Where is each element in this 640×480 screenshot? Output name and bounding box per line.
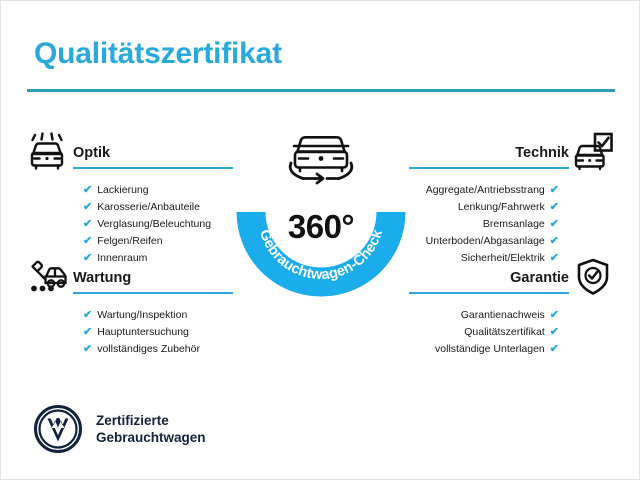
check-icon: ✔ [550,219,559,230]
list-item: ✔ Lackierung [83,182,240,199]
list-item: ✔ Verglasung/Beleuchtung [83,216,240,233]
badge-center-label: 360° [229,208,413,246]
section-title-wrap-wartung: Wartung [73,257,240,294]
check-icon: ✔ [83,219,92,230]
list-item-label: Karosserie/Anbauteile [97,202,200,213]
list-item: ✔ Aggregate/Antriebsstrang [402,182,559,199]
check-icon: ✔ [83,310,92,321]
list-item-label: Verglasung/Beleuchtung [97,219,211,230]
car-360-rotation-icon [277,125,365,187]
check-icon: ✔ [83,327,92,338]
list-item-label: Lackierung [97,185,148,196]
footer-line-2: Gebrauchtwagen [96,429,206,446]
list-item-label: Qualitätszertifikat [464,327,545,338]
list-item: ✔ Qualitätszertifikat [402,324,559,341]
section-header-garantie: Garantie [402,257,617,301]
list-item-label: Garantienachweis [461,310,545,321]
list-item-label: vollständige Unterlagen [435,344,545,355]
list-item: ✔ Felgen/Reifen [83,233,240,250]
check-icon: ✔ [83,202,92,213]
volkswagen-footer: Zertifizierte Gebrauchtwagen [34,405,206,453]
list-item: ✔ Wartung/Inspektion [83,307,240,324]
car-wash-icon [25,132,73,174]
check-icon: ✔ [550,185,559,196]
check-icon: ✔ [83,236,92,247]
section-title-optik: Optik [73,146,240,162]
section-divider-optik [73,167,233,169]
section-divider-garantie [409,292,569,294]
list-item: ✔ Lenkung/Fahrwerk [402,199,559,216]
list-item: ✔ Garantienachweis [402,307,559,324]
check-icon: ✔ [550,202,559,213]
list-item-label: Aggregate/Antriebsstrang [426,185,545,196]
check-icon: ✔ [550,327,559,338]
volkswagen-logo [34,405,82,453]
check-list-garantie: ✔ Garantienachweis ✔ Qualitätszertifikat… [402,307,617,358]
section-optik: Optik ✔ Lackierung ✔ Karosserie/Anbautei… [25,132,240,267]
section-title-wrap-optik: Optik [73,132,240,169]
check-list-optik: ✔ Lackierung ✔ Karosserie/Anbauteile ✔ V… [25,182,240,267]
section-title-wartung: Wartung [73,271,240,287]
section-divider-wartung [73,292,233,294]
check-icon: ✔ [550,310,559,321]
list-item: ✔ vollständiges Zubehör [83,341,240,358]
section-divider-technik [409,167,569,169]
check-icon: ✔ [83,344,92,355]
section-wartung: Wartung ✔ Wartung/Inspektion ✔ Hauptunte… [25,257,240,358]
car-checkbox-icon [569,132,617,174]
section-title-technik: Technik [402,146,569,162]
section-header-wartung: Wartung [25,257,240,301]
list-item-label: Lenkung/Fahrwerk [458,202,545,213]
check-icon: ✔ [550,344,559,355]
list-item: ✔ Bremsanlage [402,216,559,233]
list-item-label: Hauptuntersuchung [97,327,189,338]
section-title-garantie: Garantie [402,271,569,287]
list-item: ✔ Karosserie/Anbauteile [83,199,240,216]
volkswagen-footer-text: Zertifizierte Gebrauchtwagen [96,412,206,447]
section-technik: Technik ✔ Aggregate/Antriebsstrang ✔ Len… [402,132,617,267]
page-title: Qualitätszertifikat [34,37,282,71]
section-title-wrap-technik: Technik [402,132,569,169]
qualitaetszertifikat-page: Qualitätszertifikat [0,0,640,480]
list-item-label: Wartung/Inspektion [97,310,187,321]
section-garantie: Garantie ✔ Garantienachweis ✔ Qualitätsz… [402,257,617,358]
car-service-tool-icon [25,257,73,299]
shield-check-icon [569,257,617,299]
check-list-wartung: ✔ Wartung/Inspektion ✔ Hauptuntersuchung… [25,307,240,358]
list-item-label: Felgen/Reifen [97,236,162,247]
list-item-label: Unterboden/Abgasanlage [426,236,545,247]
check-icon: ✔ [550,236,559,247]
section-title-wrap-garantie: Garantie [402,257,569,294]
list-item-label: vollständiges Zubehör [97,344,200,355]
title-divider [27,89,615,92]
section-header-technik: Technik [402,132,617,176]
list-item: ✔ Unterboden/Abgasanlage [402,233,559,250]
list-item: ✔ vollständige Unterlagen [402,341,559,358]
check-list-technik: ✔ Aggregate/Antriebsstrang ✔ Lenkung/Fah… [402,182,617,267]
list-item-label: Bremsanlage [483,219,545,230]
section-header-optik: Optik [25,132,240,176]
footer-line-1: Zertifizierte [96,412,206,429]
check-icon: ✔ [83,185,92,196]
list-item: ✔ Hauptuntersuchung [83,324,240,341]
